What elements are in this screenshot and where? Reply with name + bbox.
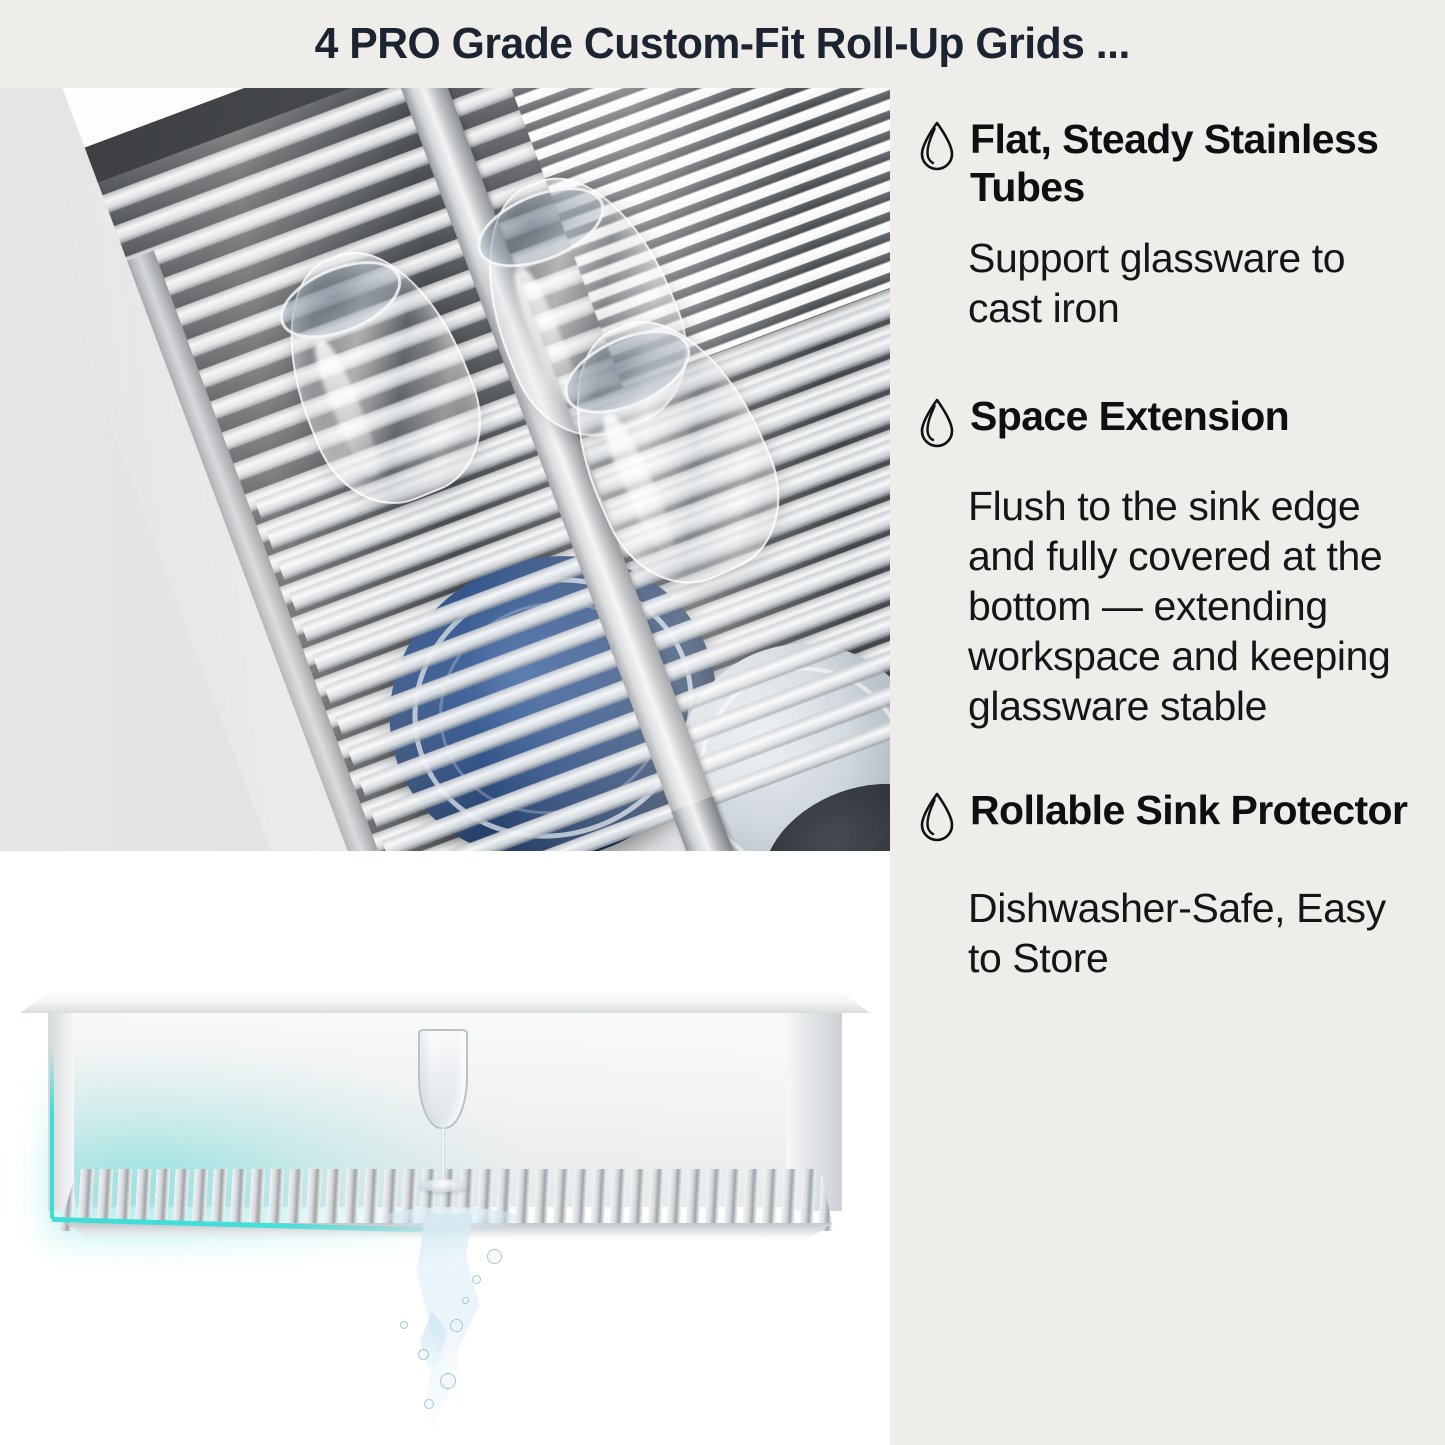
title-bar: 4 PRO Grade Custom-Fit Roll-Up Grids ... bbox=[0, 0, 1445, 88]
sink-top-rim bbox=[20, 991, 870, 1013]
water-bubble bbox=[487, 1249, 502, 1264]
water-droplet-icon bbox=[918, 791, 956, 845]
wine-glass-stem bbox=[441, 1127, 445, 1183]
feature-body: Flush to the sink edge and fully covered… bbox=[968, 481, 1415, 731]
water-bubble bbox=[450, 1319, 463, 1332]
feature-item: Space Extension Flush to the sink edge a… bbox=[918, 393, 1415, 731]
water-droplet-icon bbox=[918, 120, 956, 174]
water-bubble bbox=[462, 1297, 469, 1304]
feature-item: Flat, Steady Stainless Tubes Support gla… bbox=[918, 116, 1415, 333]
water-bubble bbox=[440, 1373, 456, 1389]
feature-body: Support glassware to cast iron bbox=[968, 233, 1415, 333]
feature-item: Rollable Sink Protector Dishwasher-Safe,… bbox=[918, 787, 1415, 983]
cyan-edge-highlight-vertical bbox=[50, 1047, 54, 1219]
page-title: 4 PRO Grade Custom-Fit Roll-Up Grids ... bbox=[315, 22, 1130, 66]
wine-glass-bowl bbox=[418, 1029, 468, 1129]
feature-title: Rollable Sink Protector bbox=[970, 787, 1407, 835]
feature-title: Flat, Steady Stainless Tubes bbox=[970, 116, 1415, 211]
feature-heading-row: Flat, Steady Stainless Tubes bbox=[918, 116, 1415, 211]
image-column bbox=[0, 88, 890, 1445]
water-droplet-icon bbox=[918, 397, 956, 451]
water-bubble bbox=[424, 1399, 434, 1409]
water-bubble bbox=[400, 1321, 408, 1329]
feature-body: Dishwasher-Safe, Easy to Store bbox=[968, 883, 1415, 983]
wine-glass-foot bbox=[419, 1179, 467, 1192]
sink-grid-with-glasses-photo bbox=[0, 88, 890, 851]
feature-list: Flat, Steady Stainless Tubes Support gla… bbox=[890, 88, 1445, 1445]
water-bubble bbox=[472, 1275, 481, 1284]
feature-heading-row: Rollable Sink Protector bbox=[918, 787, 1415, 845]
feature-heading-row: Space Extension bbox=[918, 393, 1415, 451]
wine-glass bbox=[412, 1029, 474, 1199]
infographic-root: 4 PRO Grade Custom-Fit Roll-Up Grids ... bbox=[0, 0, 1445, 1445]
sink-cross-section-render bbox=[0, 851, 890, 1445]
water-bubble bbox=[418, 1349, 429, 1360]
feature-title: Space Extension bbox=[970, 393, 1289, 441]
